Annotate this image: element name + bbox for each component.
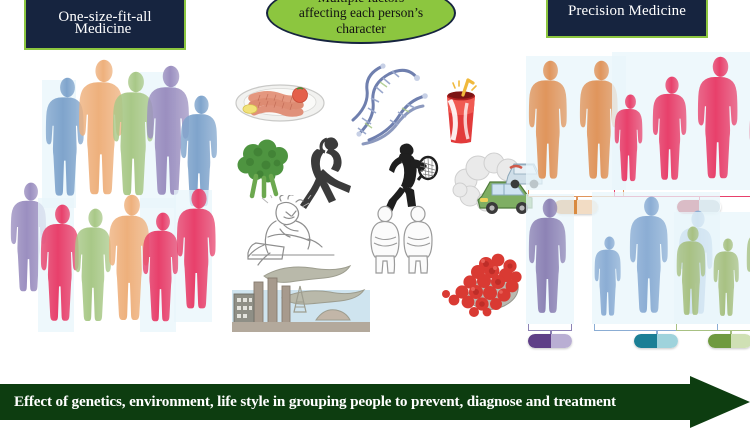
group-purple-pill (528, 334, 572, 348)
precision-medicine-groups (0, 0, 750, 360)
group-green-bracket (676, 324, 750, 331)
group-blue-person-1 (594, 236, 625, 322)
figure-canvas: One-size-fit-all Medicine Multiple facto… (0, 0, 750, 430)
effect-banner-text: Effect of genetics, environment, life st… (14, 393, 616, 411)
group-green-person-3 (746, 216, 750, 322)
group-pink-person-3 (697, 56, 744, 188)
effect-banner-text-wrap: Effect of genetics, environment, life st… (14, 376, 704, 428)
group-purple-bracket (528, 324, 572, 331)
group-orange-person-1 (528, 60, 573, 188)
group-green-person-2 (713, 238, 743, 322)
group-pink-person-1 (614, 94, 647, 188)
group-green-person-1 (676, 226, 710, 322)
group-purple-person-1 (528, 198, 572, 322)
group-blue-pill (634, 334, 678, 348)
group-blue-person-2 (629, 196, 674, 322)
group-green-pill (708, 334, 750, 348)
group-pink-person-2 (652, 76, 692, 188)
